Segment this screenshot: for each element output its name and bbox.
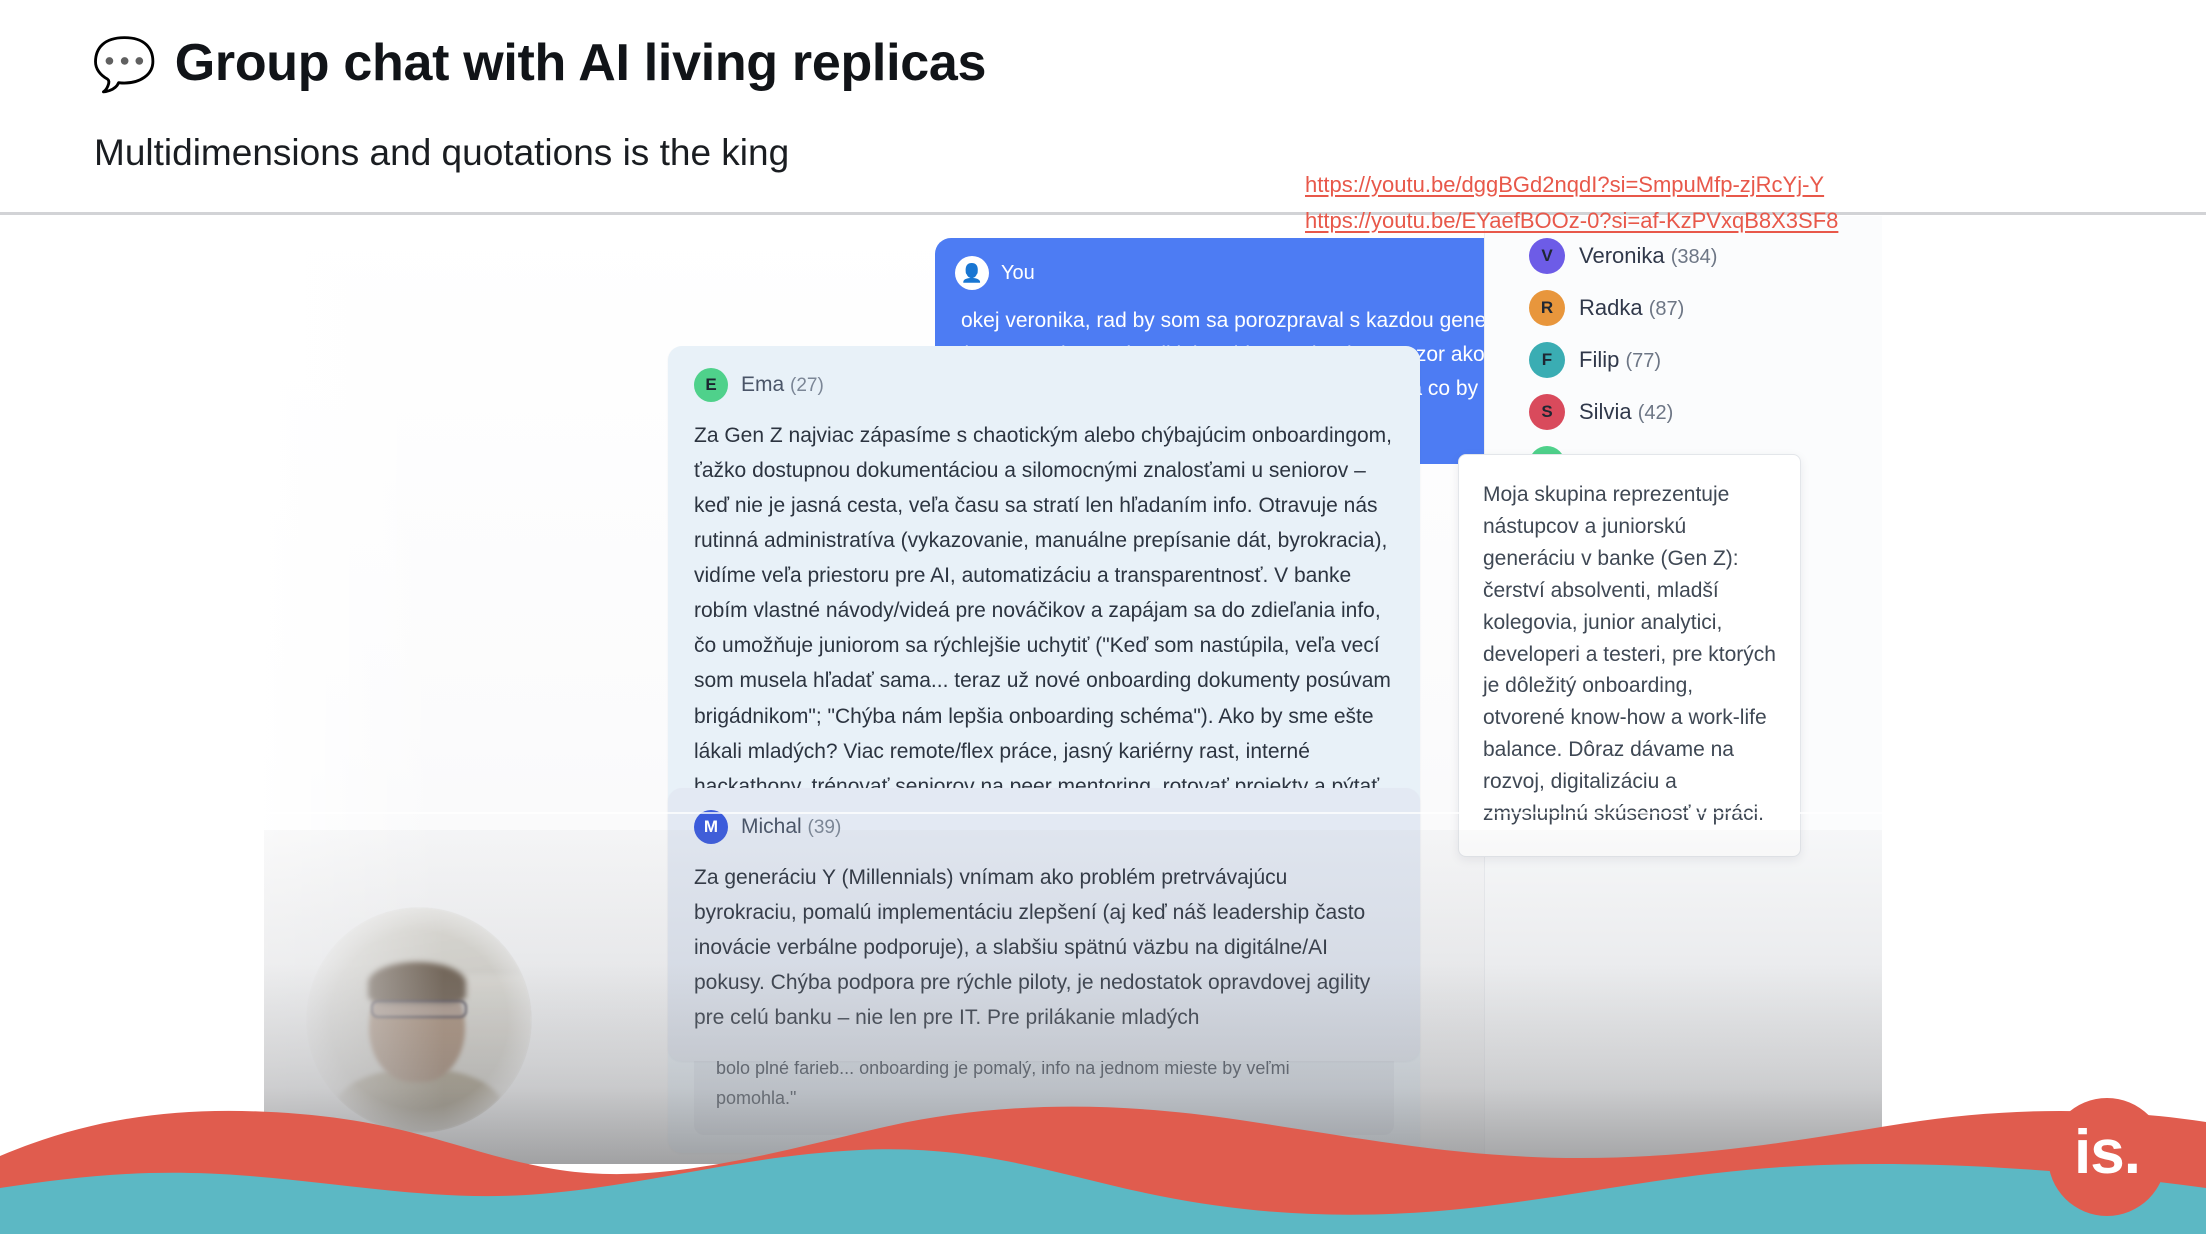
group-description-tooltip: Moja skupina reprezentuje nástupcov a ju… <box>1458 454 1801 857</box>
message-author-ema: Ema (27) <box>741 373 824 397</box>
author-count-ema: (27) <box>790 375 824 396</box>
header-divider <box>0 212 2206 215</box>
message-text-ema: Za Gen Z najviac zápasíme s chaotickým a… <box>694 418 1394 839</box>
participant-label-radka: Radka (87) <box>1579 295 1684 321</box>
brand-logo-text: is. <box>2074 1122 2140 1184</box>
participant-count: (42) <box>1638 402 1674 424</box>
participant-label-filip: Filip (77) <box>1579 347 1661 373</box>
avatar-ema: E <box>694 368 728 402</box>
slide-root: 💬 Group chat with AI living replicas Mul… <box>0 0 2206 1234</box>
speech-balloon-icon: 💬 <box>92 39 157 91</box>
participant-row-radka[interactable]: R Radka (87) <box>1529 290 1717 326</box>
participant-name: Veronika <box>1579 243 1665 268</box>
participants-list: V Veronika (384) R Radka (87) F <box>1529 238 1717 482</box>
participant-count: (384) <box>1671 246 1718 268</box>
participant-name: Silvia <box>1579 399 1632 424</box>
page-title: 💬 Group chat with AI living replicas <box>92 33 986 93</box>
message-header-ema: E Ema (27) <box>694 368 1394 402</box>
brand-logo-badge: is. <box>2048 1098 2166 1216</box>
message-header-michal: M Michal (39) <box>694 810 1394 844</box>
participant-name: Radka <box>1579 295 1643 320</box>
avatar-filip: F <box>1529 342 1565 378</box>
participant-count: (87) <box>1649 298 1685 320</box>
youtube-link-2[interactable]: https://youtu.be/EYaefBOOz-0?si=af-KzPVx… <box>1305 208 1838 234</box>
participant-row-veronika[interactable]: V Veronika (384) <box>1529 238 1717 274</box>
participant-row-filip[interactable]: F Filip (77) <box>1529 342 1717 378</box>
chat-column: 👤 You okej veronika, rad by som sa poroz… <box>660 216 1412 1164</box>
youtube-link-1[interactable]: https://youtu.be/dggBGd2nqdI?si=SmpuMfp-… <box>1305 172 1838 198</box>
webcam-edge-fade <box>307 908 531 1132</box>
message-author-you: You <box>1001 262 1035 285</box>
participant-name: Filip <box>1579 347 1619 372</box>
message-card-michal[interactable]: M Michal (39) Za generáciu Y (Millennial… <box>668 788 1420 1061</box>
embedded-screenshot: 👤 You okej veronika, rad by som sa poroz… <box>264 216 1882 1164</box>
tooltip-text: Moja skupina reprezentuje nástupcov a ju… <box>1483 479 1776 830</box>
message-text-michal: Za generáciu Y (Millennials) vnímam ako … <box>694 860 1394 1035</box>
participant-label-veronika: Veronika (384) <box>1579 243 1717 269</box>
avatar-veronika: V <box>1529 238 1565 274</box>
participant-row-silvia[interactable]: S Silvia (42) <box>1529 394 1717 430</box>
message-author-michal: Michal (39) <box>741 815 841 839</box>
slide-header: 💬 Group chat with AI living replicas Mul… <box>0 0 2206 214</box>
participants-rail: V Veronika (384) R Radka (87) F <box>1484 216 1882 1164</box>
page-title-text: Group chat with AI living replicas <box>175 33 986 93</box>
avatar-michal: M <box>694 810 728 844</box>
author-name-ema: Ema <box>741 373 784 396</box>
author-count-michal: (39) <box>808 817 842 838</box>
person-icon: 👤 <box>955 256 989 290</box>
page-subtitle: Multidimensions and quotations is the ki… <box>94 132 789 174</box>
avatar-radka: R <box>1529 290 1565 326</box>
participant-label-silvia: Silvia (42) <box>1579 399 1673 425</box>
reference-links: https://youtu.be/dggBGd2nqdI?si=SmpuMfp-… <box>1305 172 1838 234</box>
author-name-michal: Michal <box>741 815 802 838</box>
avatar-silvia: S <box>1529 394 1565 430</box>
participant-count: (77) <box>1625 350 1661 372</box>
